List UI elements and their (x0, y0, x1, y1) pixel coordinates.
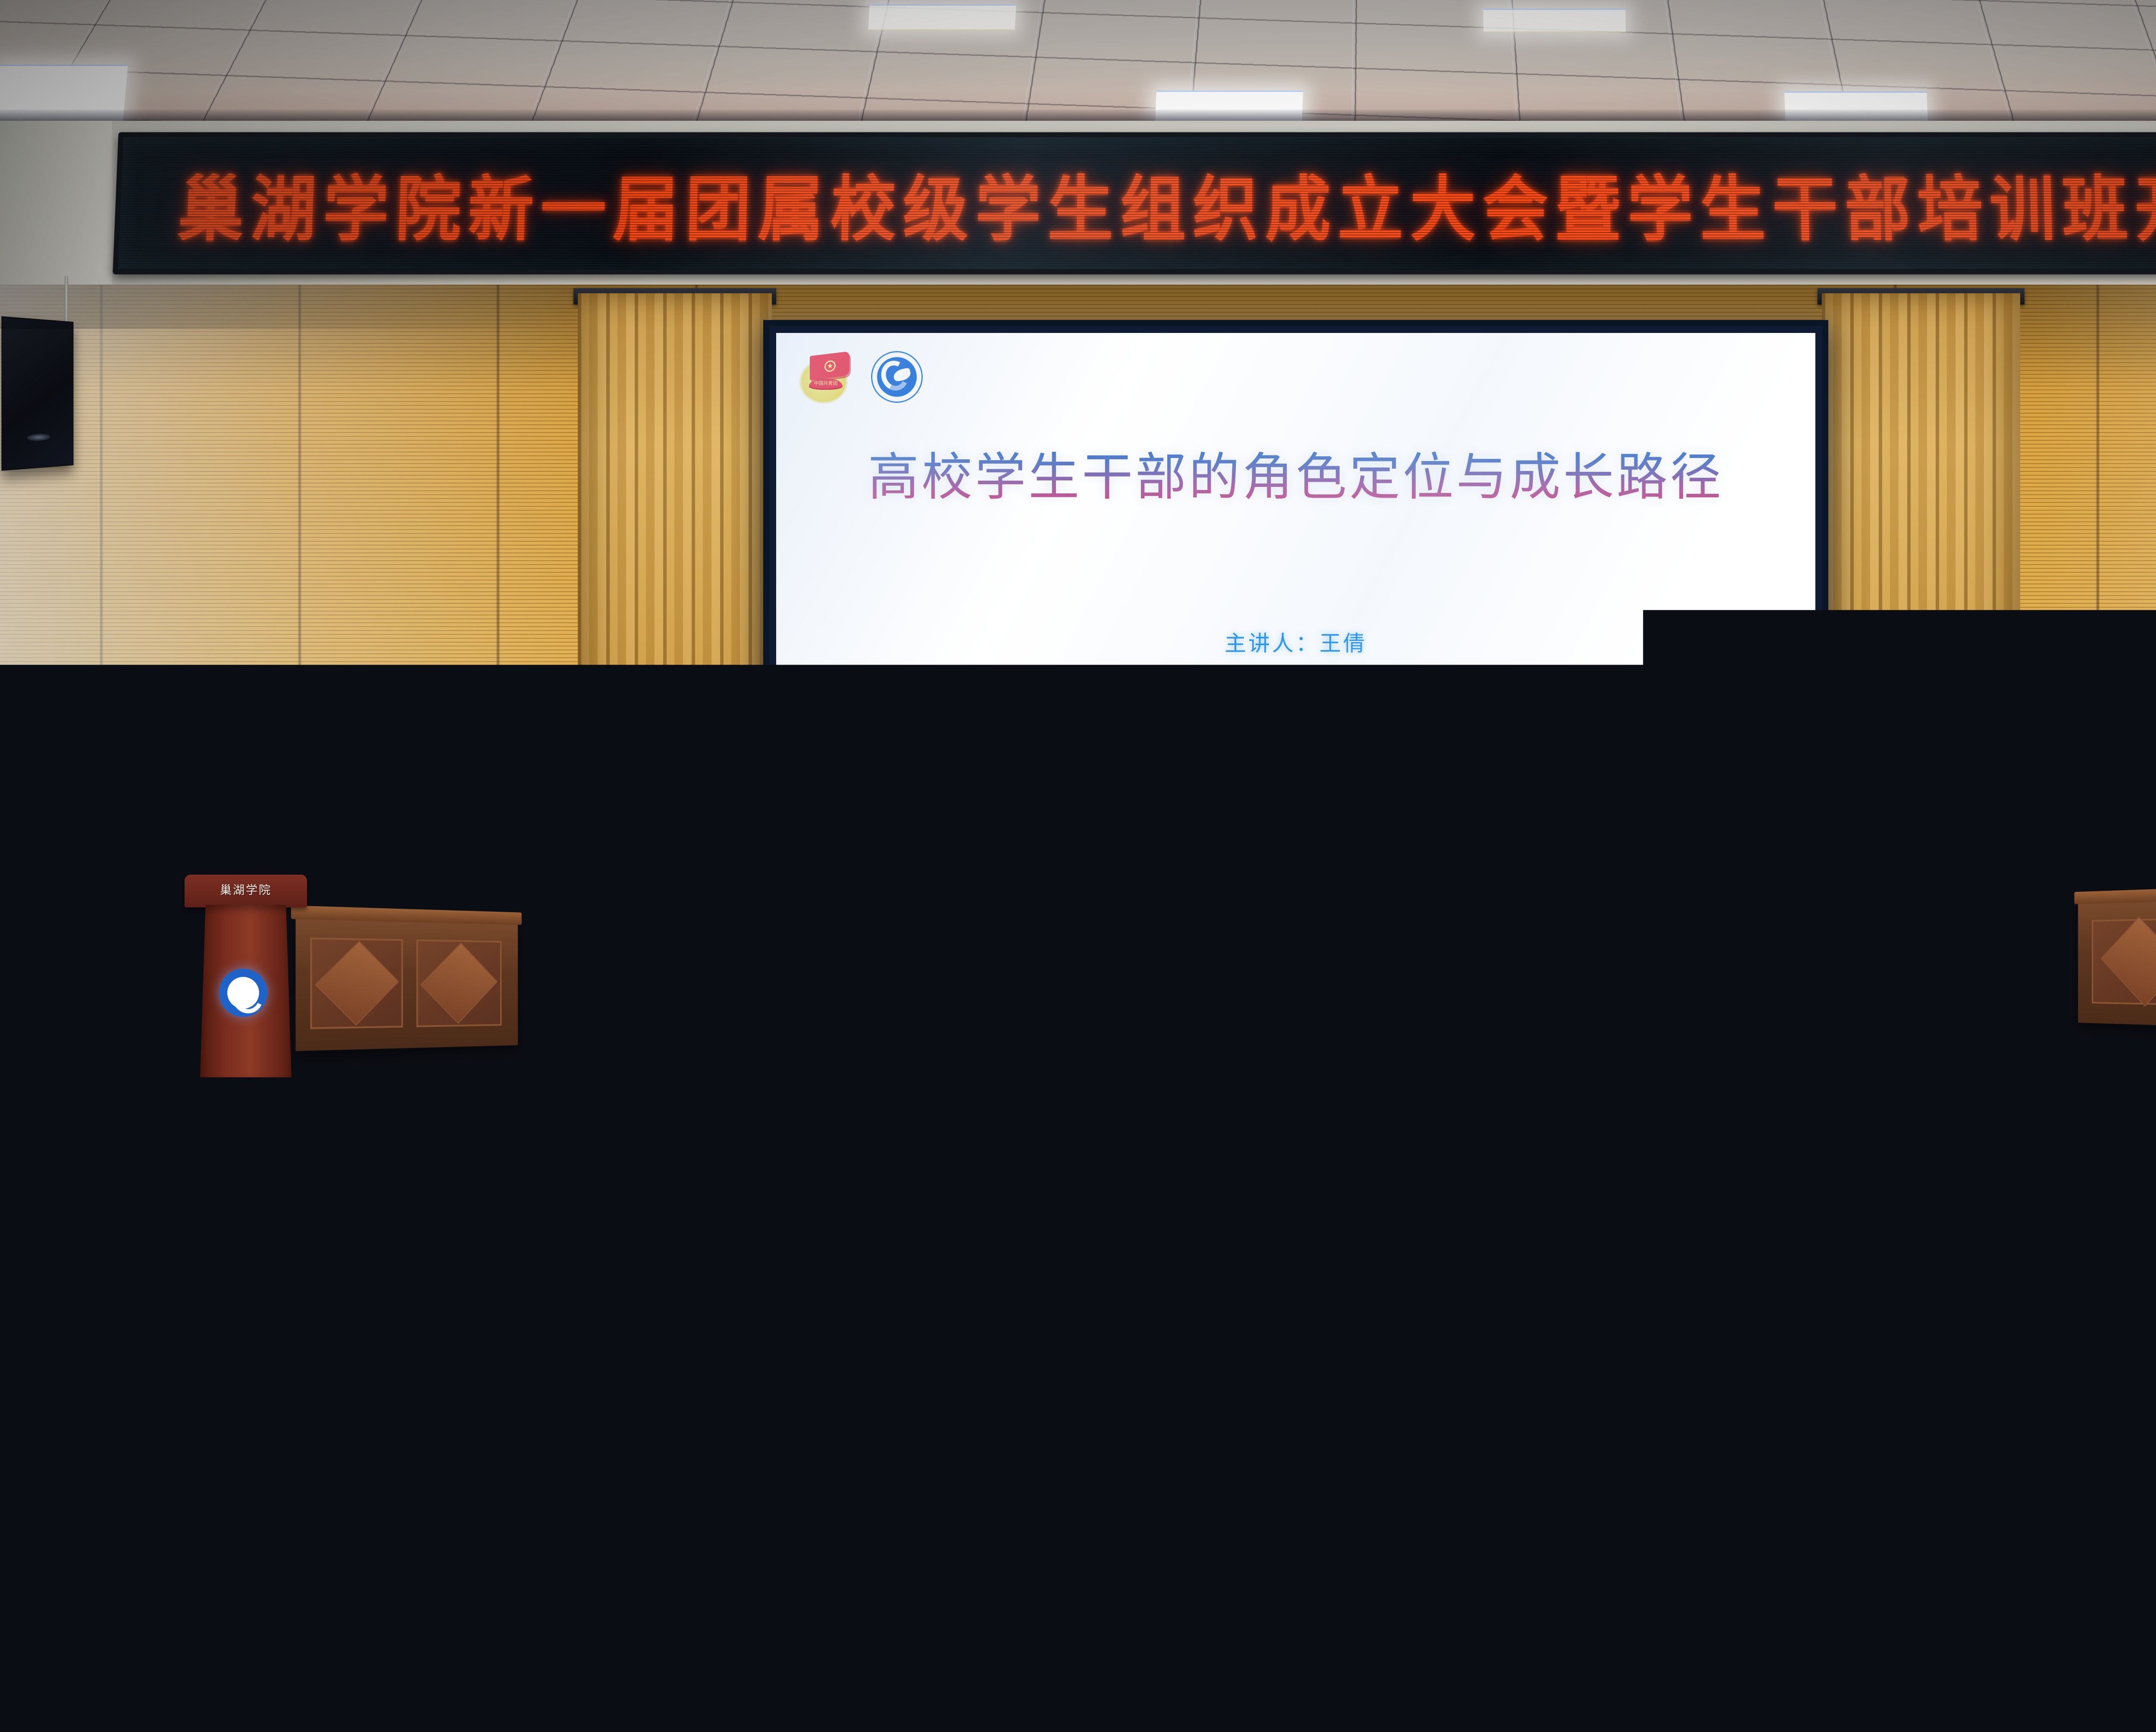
audience-head (914, 1221, 986, 1295)
slide-logo-group: 中国共青团 (799, 350, 923, 404)
audience-head (138, 1497, 245, 1612)
chair-legs (1986, 970, 2028, 1009)
center-aisle-light (1026, 1164, 1156, 1732)
lectern-podium: 巢湖学院 (181, 875, 310, 1077)
audience-head (1669, 1305, 1751, 1390)
desk-top-surface (1125, 922, 1496, 935)
chaohu-university-logo-icon (871, 351, 923, 403)
cyl-red-flag (810, 351, 849, 380)
upper-wall-left-return (0, 121, 112, 293)
desk-diamond-inlay (2100, 917, 2156, 1007)
audience-head (1682, 1493, 1790, 1613)
auditorium-seat[interactable] (1535, 1257, 1690, 1321)
audience-head (897, 1600, 1021, 1732)
audience-head (897, 1500, 1003, 1612)
auditorium-seat[interactable] (1311, 1352, 1488, 1424)
footer-university-name-cn: 巢湖学院 (1232, 811, 1414, 850)
audience-head (1190, 1591, 1317, 1732)
audience-head (1466, 1298, 1551, 1390)
audience-head (1268, 1218, 1340, 1294)
audience-head (1966, 1164, 2031, 1209)
audience-seating-area (0, 1164, 2156, 1732)
audience-head (655, 1164, 719, 1211)
audience-head (858, 1300, 941, 1390)
audience-head (1703, 1214, 1777, 1294)
communist-youth-league-emblem-icon: 中国共青团 (799, 350, 852, 404)
audience-head (1889, 1219, 1960, 1295)
audience-head (548, 1397, 642, 1500)
audience-head (1457, 1399, 1551, 1500)
ceiling (0, 0, 2156, 129)
audience-head (1867, 1299, 1951, 1390)
desk-front-panel (1318, 960, 1474, 1084)
audience-head (1423, 1502, 1528, 1611)
speaker-mount-bracket (65, 276, 68, 328)
projection-screen: 中国共青团 高校学生干部的角色定位与成长路径 主讲人：王倩 2025 年 10 … (763, 320, 1828, 894)
footer-university-name-en: CHAOHU UNIVERSITY (1232, 851, 1414, 866)
audience-head (642, 1494, 750, 1612)
right-side-desk (2078, 893, 2156, 1031)
audience-head (1785, 1594, 1911, 1732)
desk-front-panel (416, 939, 501, 1027)
audience-head (772, 1403, 864, 1500)
desk-front-panel (2092, 918, 2156, 1006)
audience-head (612, 1593, 738, 1732)
audience-head (414, 1215, 487, 1294)
main-speaker-desk (1130, 932, 1492, 1113)
chair-cushion (1990, 908, 2021, 960)
audience-head (1690, 1403, 1783, 1500)
audience-head (2070, 1215, 2143, 1294)
stage-curtain-left (578, 293, 772, 988)
audience-head (78, 1302, 160, 1390)
audience-head (1164, 1164, 1230, 1208)
audience-head (397, 1501, 502, 1611)
podium-nameplate: 巢湖学院 (185, 875, 307, 907)
slide-title: 高校学生干部的角色定位与成长路径 (776, 436, 1815, 509)
audience-head (742, 1213, 815, 1294)
audience-head (276, 1305, 357, 1390)
desk-front-panel (310, 938, 403, 1029)
stage-chair (1984, 901, 2031, 1009)
audience-head (819, 1164, 884, 1208)
slide-footer-branding: 巢湖学院 CHAOHU UNIVERSITY (776, 811, 1815, 866)
audience-head (103, 1400, 197, 1500)
audience-head (1940, 1500, 2046, 1612)
desk-front-panel (1148, 960, 1304, 1084)
podium-label: 巢湖学院 (185, 881, 307, 897)
auditorium-scene: 巢湖学院新一届团属校级学生组织成立大会暨学生干部培训班开班典礼 (0, 0, 2156, 1732)
audience-head (1910, 1401, 2002, 1500)
audience-head (1229, 1404, 1320, 1499)
cyl-name-band: 中国共青团 (809, 379, 843, 390)
slide-presenter: 主讲人：王倩 (776, 626, 1815, 657)
slide-date: 2025 年 10 月 29 日 (776, 666, 1815, 697)
audience-head (470, 1299, 554, 1390)
audience-head (1255, 1301, 1338, 1390)
projection-screen-content: 中国共青团 高校学生干部的角色定位与成长路径 主讲人：王倩 2025 年 10 … (776, 333, 1815, 881)
stage-curtain-right (1822, 293, 2020, 988)
microphone-head-icon (1314, 880, 1325, 891)
left-side-desk (296, 916, 518, 1051)
podium-university-seal-icon (219, 969, 267, 1017)
audience-head (56, 1215, 129, 1293)
led-banner-text: 巢湖学院新一届团属校级学生组织成立大会暨学生干部培训班开班典礼 (176, 152, 2156, 254)
audience-head (578, 1219, 649, 1294)
presenter-glasses-icon (1297, 872, 1333, 881)
cyl-star-icon (824, 360, 836, 372)
audience-head (2070, 1304, 2152, 1390)
ceiling-light-panel (868, 4, 1016, 30)
audience-head (664, 1304, 746, 1390)
desk-diamond-inlay (1331, 957, 1461, 1087)
gift-bag (151, 1177, 203, 1233)
chaohu-university-seal-icon (1178, 817, 1221, 860)
desk-diamond-inlay (315, 941, 399, 1026)
desk-diamond-inlay (420, 943, 498, 1024)
audience-head (328, 1403, 419, 1499)
audience-head (60, 1164, 125, 1208)
footer-name-block: 巢湖学院 CHAOHU UNIVERSITY (1232, 811, 1414, 866)
desk-diamond-inlay (1161, 957, 1291, 1087)
led-banner-display: 巢湖学院新一届团属校级学生组织成立大会暨学生干部培训班开班典礼 (113, 132, 2156, 275)
chair-backrest (1984, 901, 2031, 970)
cyl-band-text: 中国共青团 (809, 380, 843, 386)
left-wall-loudspeaker (1, 316, 73, 471)
ceiling-light-panel (1483, 9, 1626, 32)
audience-head (241, 1218, 314, 1294)
audience-head (1634, 1164, 1699, 1210)
